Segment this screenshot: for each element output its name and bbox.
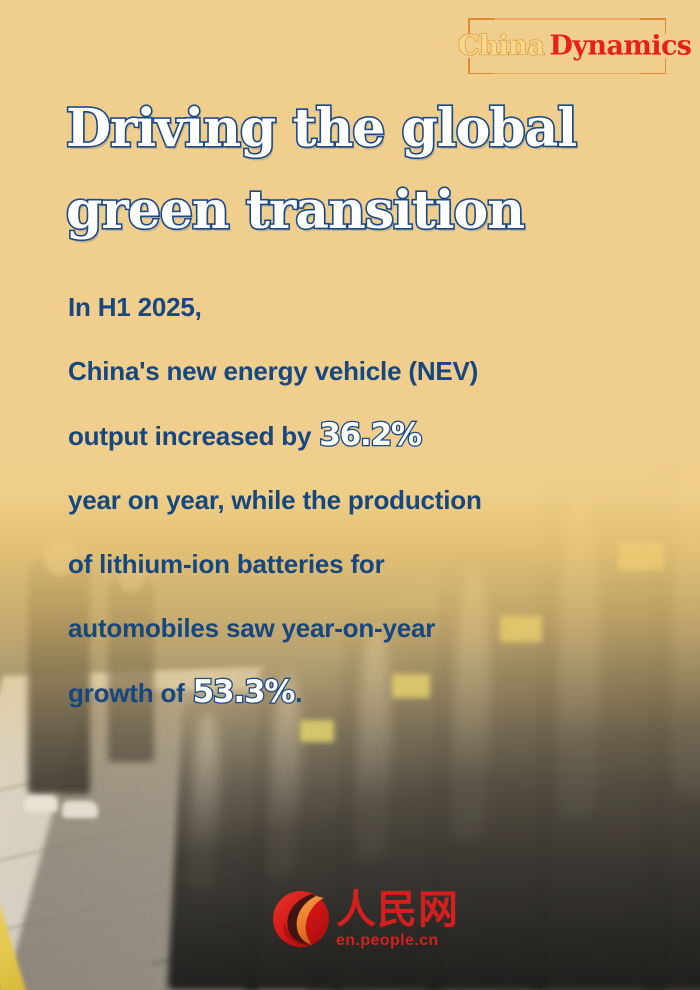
body-line-6: automobiles saw year-on-year [68, 596, 668, 660]
stat-battery-output: 53.3% [193, 674, 295, 710]
body-line-1: In H1 2025, [68, 275, 668, 339]
peoples-daily-logo: 人民网 en.people.cn [272, 888, 444, 954]
infographic-poster: ChinaDynamics Driving the global green t… [0, 0, 700, 990]
body-line-7: growth of 53.3%. [68, 660, 668, 725]
body-line-7-text: growth of [68, 678, 192, 708]
peoples-daily-mark-icon [272, 890, 330, 948]
stat-nev-output: 36.2% [319, 417, 421, 453]
headline: Driving the global green transition [66, 88, 666, 252]
body-line-5: of lithium-ion batteries for [68, 532, 668, 596]
headline-line-2: green transition [66, 170, 666, 252]
badge-word-dynamics: Dynamics [550, 31, 692, 62]
body-copy: In H1 2025, China's new energy vehicle (… [68, 275, 668, 725]
badge-word-china: China [458, 31, 545, 62]
badge-wordmark: ChinaDynamics [458, 33, 676, 60]
body-line-4: year on year, while the production [68, 468, 668, 532]
headline-line-1: Driving the global [66, 88, 666, 170]
peoples-daily-chinese-name: 人民网 [336, 888, 459, 932]
body-line-3: output increased by 36.2% [68, 403, 668, 468]
body-line-7-period: . [295, 678, 302, 708]
peoples-daily-url: en.people.cn [336, 932, 439, 950]
body-line-2: China's new energy vehicle (NEV) [68, 339, 668, 403]
china-dynamics-badge: ChinaDynamics [458, 18, 676, 74]
body-line-3-text: output increased by [68, 421, 318, 451]
